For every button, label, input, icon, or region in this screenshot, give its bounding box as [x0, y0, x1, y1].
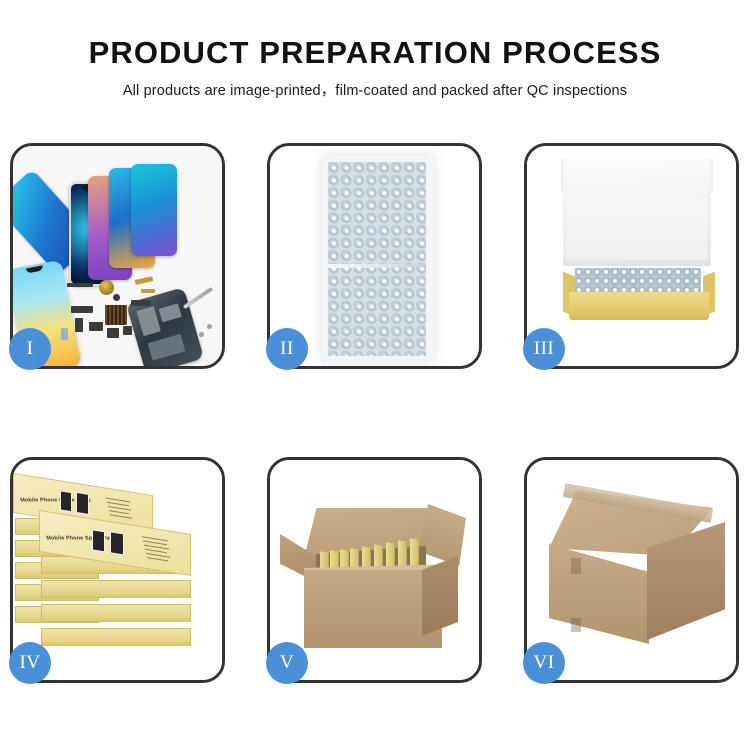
- coil-part-icon: [99, 280, 114, 295]
- page-title: PRODUCT PREPARATION PROCESS: [0, 34, 750, 72]
- step-panel-1[interactable]: I: [10, 143, 225, 369]
- box-lid-fold: [567, 198, 707, 260]
- step-panel-5[interactable]: V: [267, 457, 482, 683]
- step-badge-4: IV: [9, 642, 51, 684]
- box-front-panel: [569, 292, 709, 320]
- bubble-wrap-icon: [575, 268, 701, 294]
- phone-screen-icon: [131, 164, 177, 256]
- step-panel-2[interactable]: II: [267, 143, 482, 369]
- step-panel-6[interactable]: VI: [524, 457, 739, 683]
- step-panel-4[interactable]: Mobile Phone Spare Parts Mobile Phone Sp…: [10, 457, 225, 683]
- chip-part-icon: [105, 305, 127, 325]
- step-badge-3: III: [523, 328, 565, 370]
- screwdriver-icon: [183, 287, 213, 309]
- page-subtitle: All products are image-printed，film-coat…: [0, 81, 750, 101]
- sealed-carton-front: [549, 544, 649, 644]
- step-badge-2: II: [266, 328, 308, 370]
- header: PRODUCT PREPARATION PROCESS All products…: [0, 34, 750, 101]
- step-badge-1: I: [9, 328, 51, 370]
- step-badge-6: VI: [523, 642, 565, 684]
- product-preparation-infographic: PRODUCT PREPARATION PROCESS All products…: [0, 0, 750, 750]
- carton-body-side: [422, 556, 458, 636]
- box-brand-label: Mobile Phone Spare Parts: [46, 536, 117, 542]
- step-panel-3[interactable]: III: [524, 143, 739, 369]
- wrap-seam: [328, 264, 426, 268]
- bubble-wrap-highlight: [328, 162, 426, 356]
- step-badge-5: V: [266, 642, 308, 684]
- carton-body: [304, 570, 442, 648]
- steps-grid: I II III: [10, 143, 740, 683]
